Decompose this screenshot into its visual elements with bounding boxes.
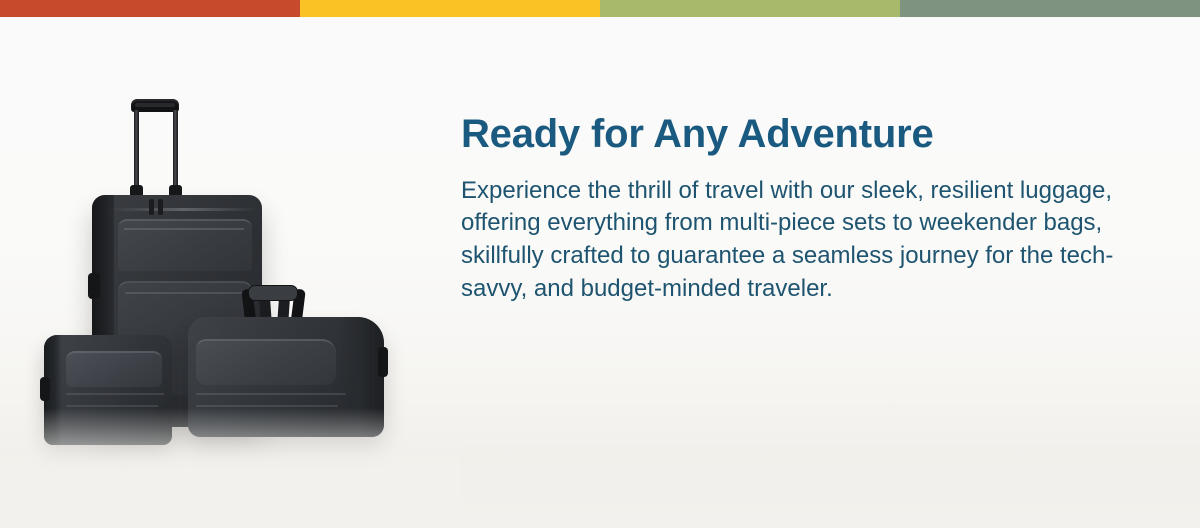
small-case-seam	[66, 405, 158, 407]
brand-color-bar	[0, 0, 1200, 17]
luggage-set-photo	[0, 17, 460, 528]
color-bar-segment-slate	[900, 0, 1200, 17]
duffel-side-grab	[378, 347, 388, 377]
page-title: Ready for Any Adventure	[461, 112, 1161, 157]
luggage-hero-banner: Ready for Any Adventure Experience the t…	[0, 0, 1200, 528]
color-bar-segment-red	[0, 0, 300, 17]
suitcase-zipper-pull	[158, 199, 163, 215]
suitcase-side-handle	[88, 273, 100, 299]
small-case-seam	[66, 393, 164, 395]
small-case-pocket	[66, 351, 162, 387]
color-bar-segment-yellow	[300, 0, 600, 17]
duffel-front-pocket	[196, 339, 336, 385]
suitcase-zipper-pull	[149, 199, 154, 215]
suitcase-lid-seam	[110, 208, 258, 211]
duffel-seam	[196, 393, 346, 395]
hero-description: Experience the thrill of travel with our…	[461, 175, 1151, 306]
hero-copy: Ready for Any Adventure Experience the t…	[461, 112, 1161, 305]
duffel-seam	[196, 405, 338, 407]
product-floor-shadow	[0, 408, 460, 528]
small-case-grab-handle	[40, 377, 50, 401]
suitcase-upper-pocket	[118, 219, 252, 271]
color-bar-segment-green	[600, 0, 900, 17]
duffel-handle-wrap	[248, 285, 298, 301]
